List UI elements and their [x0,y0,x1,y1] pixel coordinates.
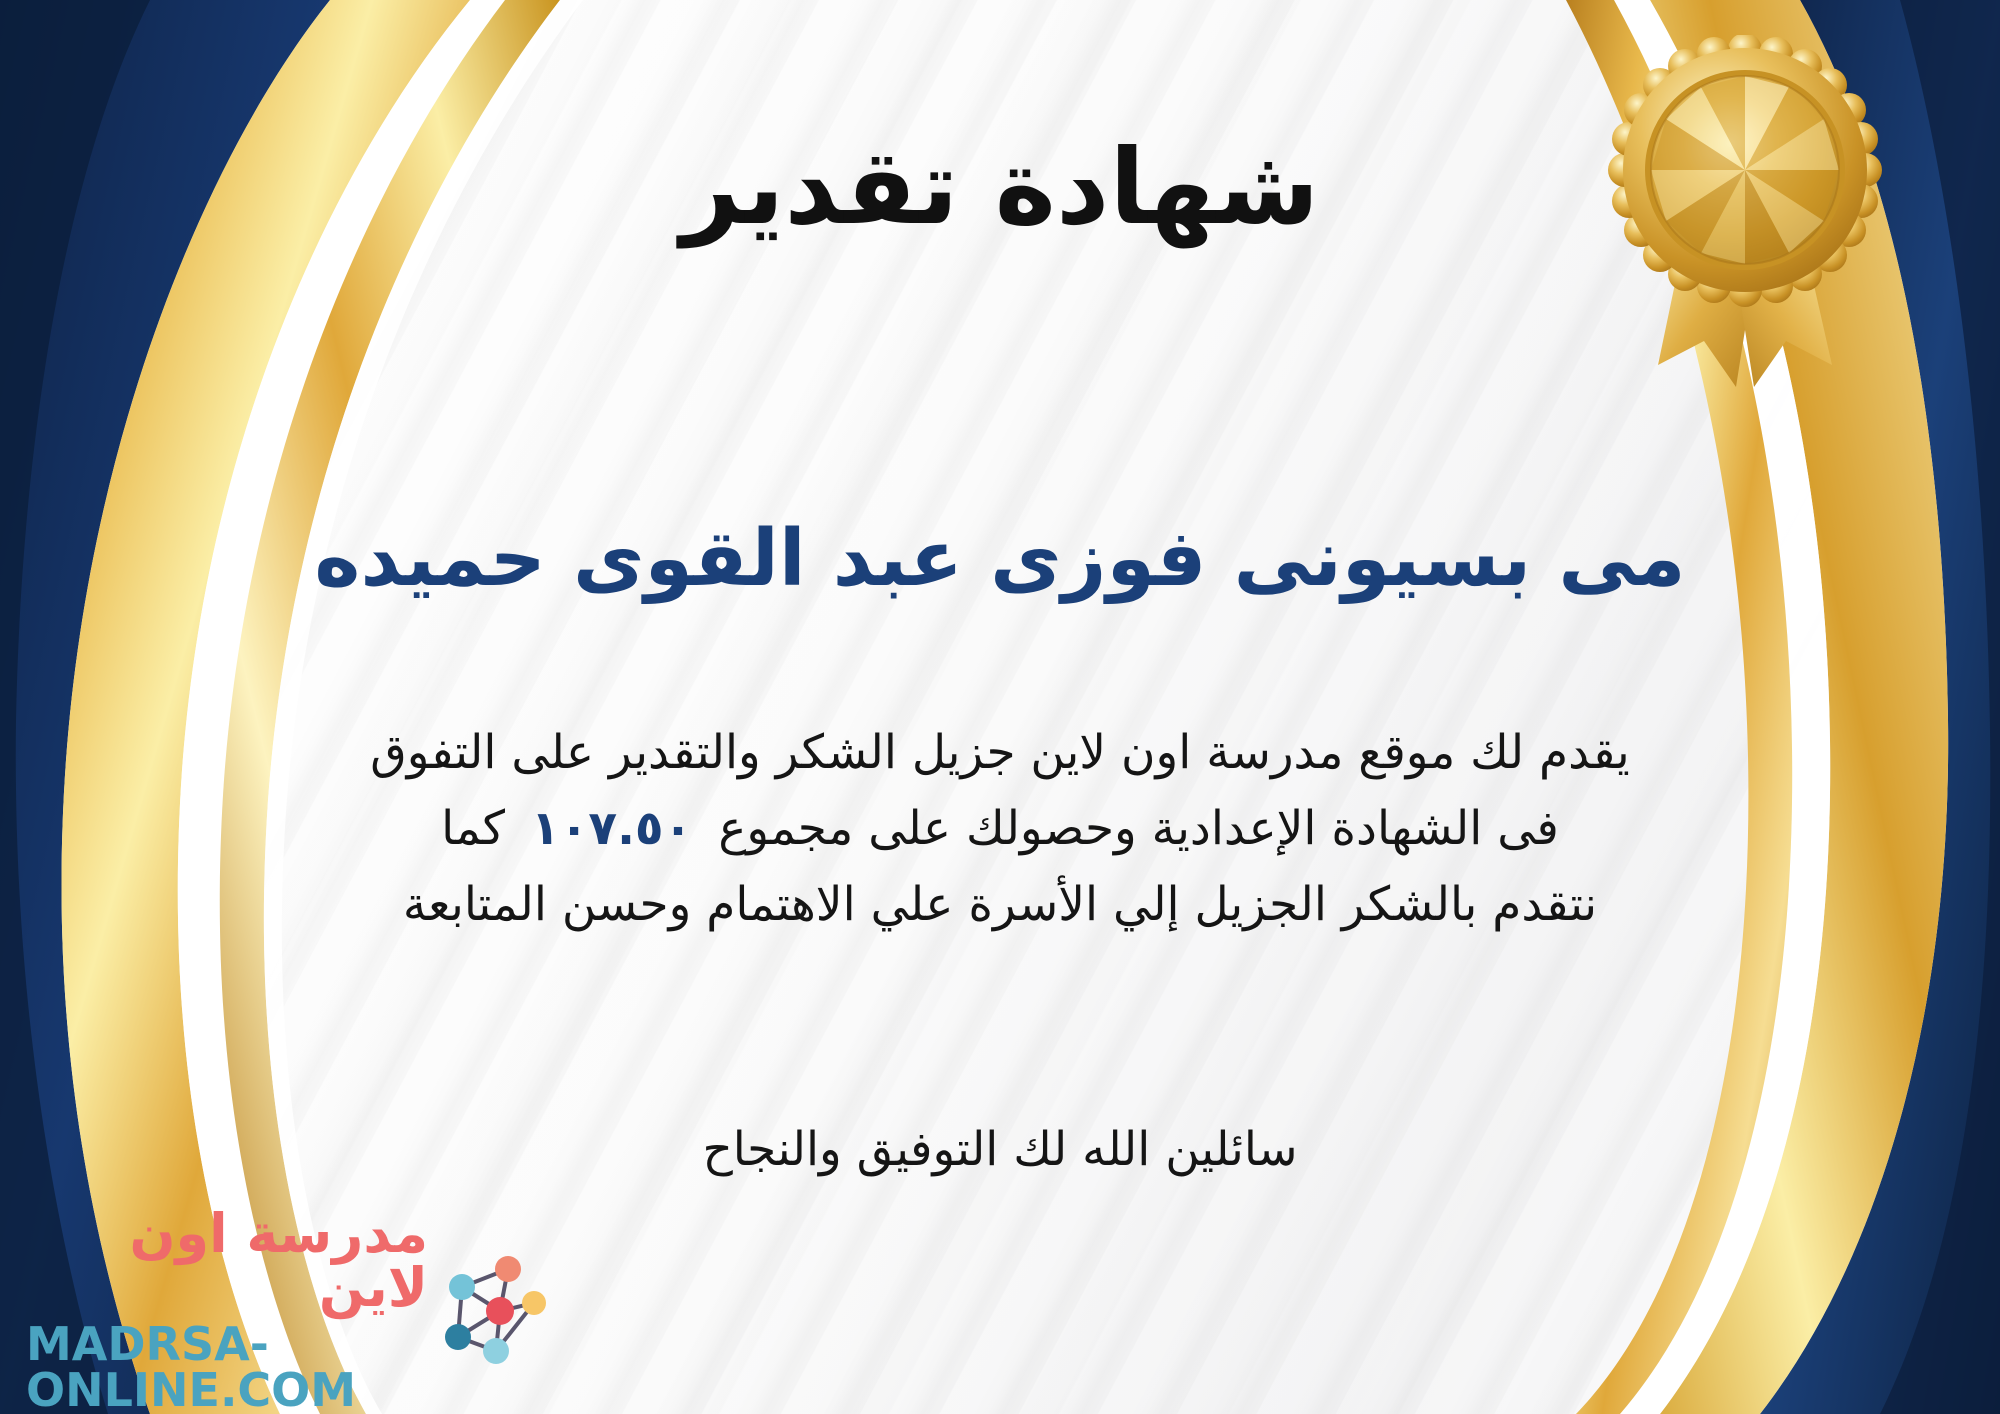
logo-text-block: مدرسة اون لاين MADRSA-ONLINE.COM [26,1207,428,1413]
certificate-title: شهادة تقدير [0,130,2000,244]
closing-wish-line: سائلين الله لك التوفيق والنجاح [0,1115,2000,1186]
network-nodes-icon [438,1251,546,1369]
logo-arabic-name: مدرسة اون لاين [26,1207,428,1315]
certificate-page: شهادة تقدير مى بسيونى فوزى عبد القوى حمي… [0,0,2000,1414]
grade-total-value: ١٠٧.٥٠ [505,801,718,856]
grade-suffix-text: كما [441,801,505,856]
logo-website-url: MADRSA-ONLINE.COM [26,1321,428,1413]
recipient-name: مى بسيونى فوزى عبد القوى حميده [0,515,2000,605]
body-line-grade: فى الشهادة الإعدادية وحصولك على مجموع١٠٧… [60,791,1940,867]
body-line-1: يقدم لك موقع مدرسة اون لاين جزيل الشكر و… [60,715,1940,791]
grade-prefix-text: فى الشهادة الإعدادية وحصولك على مجموع [718,801,1559,856]
certificate-body: يقدم لك موقع مدرسة اون لاين جزيل الشكر و… [60,715,1940,943]
body-line-3: نتقدم بالشكر الجزيل إلي الأسرة علي الاهت… [60,867,1940,943]
site-logo[interactable]: مدرسة اون لاين MADRSA-ONLINE.COM [26,1240,546,1380]
